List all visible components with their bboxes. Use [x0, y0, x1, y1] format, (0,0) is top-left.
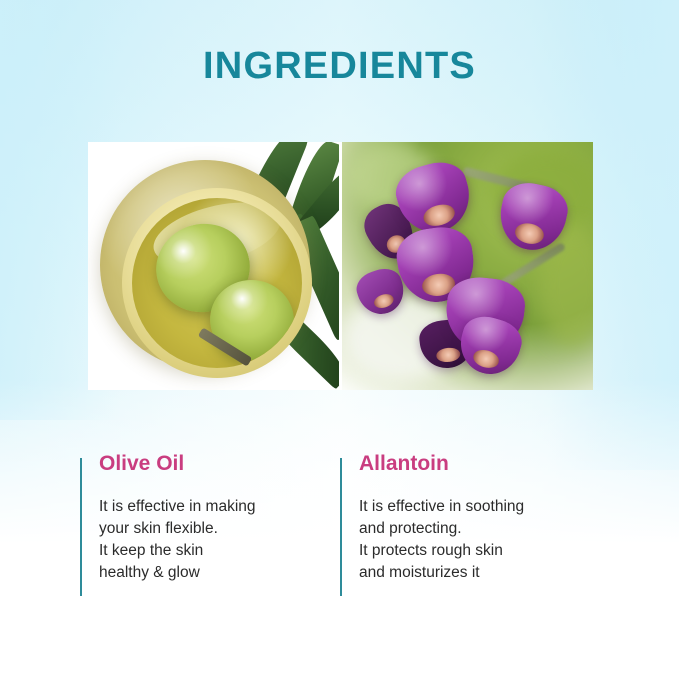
description-line: your skin flexible.	[99, 518, 340, 540]
olive-oil-illustration	[88, 142, 339, 390]
ingredient-heading: Olive Oil	[99, 452, 340, 475]
ingredient-column-olive-oil: Olive Oil It is effective in making your…	[80, 452, 340, 602]
accent-bar	[340, 458, 342, 596]
ingredient-description: It is effective in soothing and protecti…	[359, 496, 600, 584]
ingredient-description-row: Olive Oil It is effective in making your…	[80, 452, 600, 602]
comfrey-flower-illustration	[342, 142, 593, 390]
ingredient-column-allantoin: Allantoin It is effective in soothing an…	[340, 452, 600, 602]
description-line: and moisturizes it	[359, 562, 600, 584]
description-line: It is effective in soothing	[359, 496, 600, 518]
olive-oil-photo	[88, 142, 339, 390]
allantoin-photo	[342, 142, 593, 390]
description-line: It is effective in making	[99, 496, 340, 518]
accent-bar	[80, 458, 82, 596]
ingredient-description: It is effective in making your skin flex…	[99, 496, 340, 584]
description-line: It keep the skin	[99, 540, 340, 562]
description-line: It protects rough skin	[359, 540, 600, 562]
page-title: INGREDIENTS	[0, 46, 679, 88]
ingredient-image-row	[88, 142, 593, 390]
description-line: and protecting.	[359, 518, 600, 540]
description-line: healthy & glow	[99, 562, 340, 584]
ingredient-heading: Allantoin	[359, 452, 600, 475]
